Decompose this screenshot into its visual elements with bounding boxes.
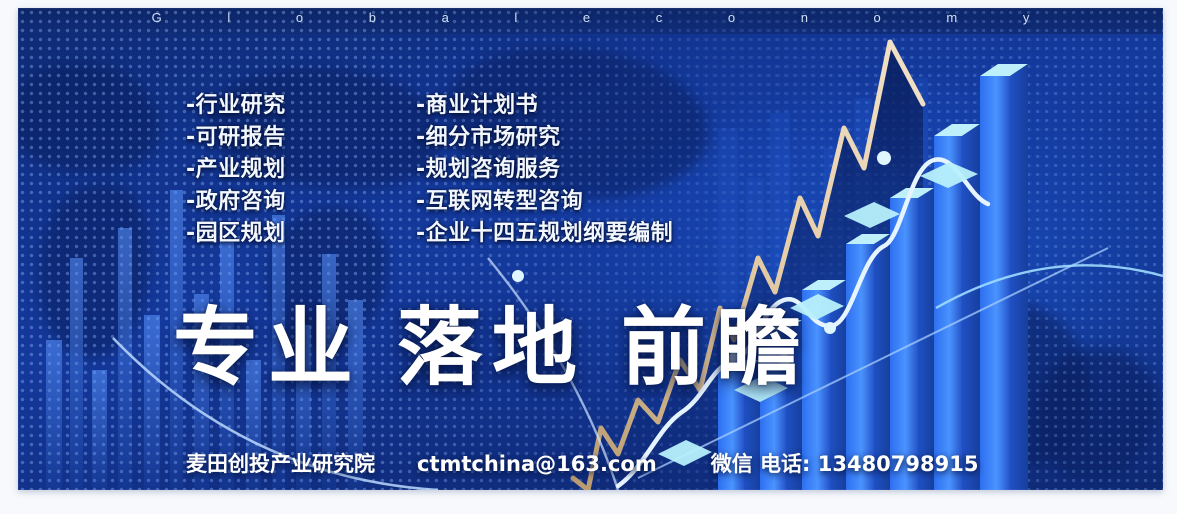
banner-root: G l o b a l e c o n o m y -行业研究 -可研报告 -产… (0, 0, 1177, 514)
banner-canvas: G l o b a l e c o n o m y -行业研究 -可研报告 -产… (18, 8, 1163, 490)
canvas-inner-border (18, 8, 1163, 490)
